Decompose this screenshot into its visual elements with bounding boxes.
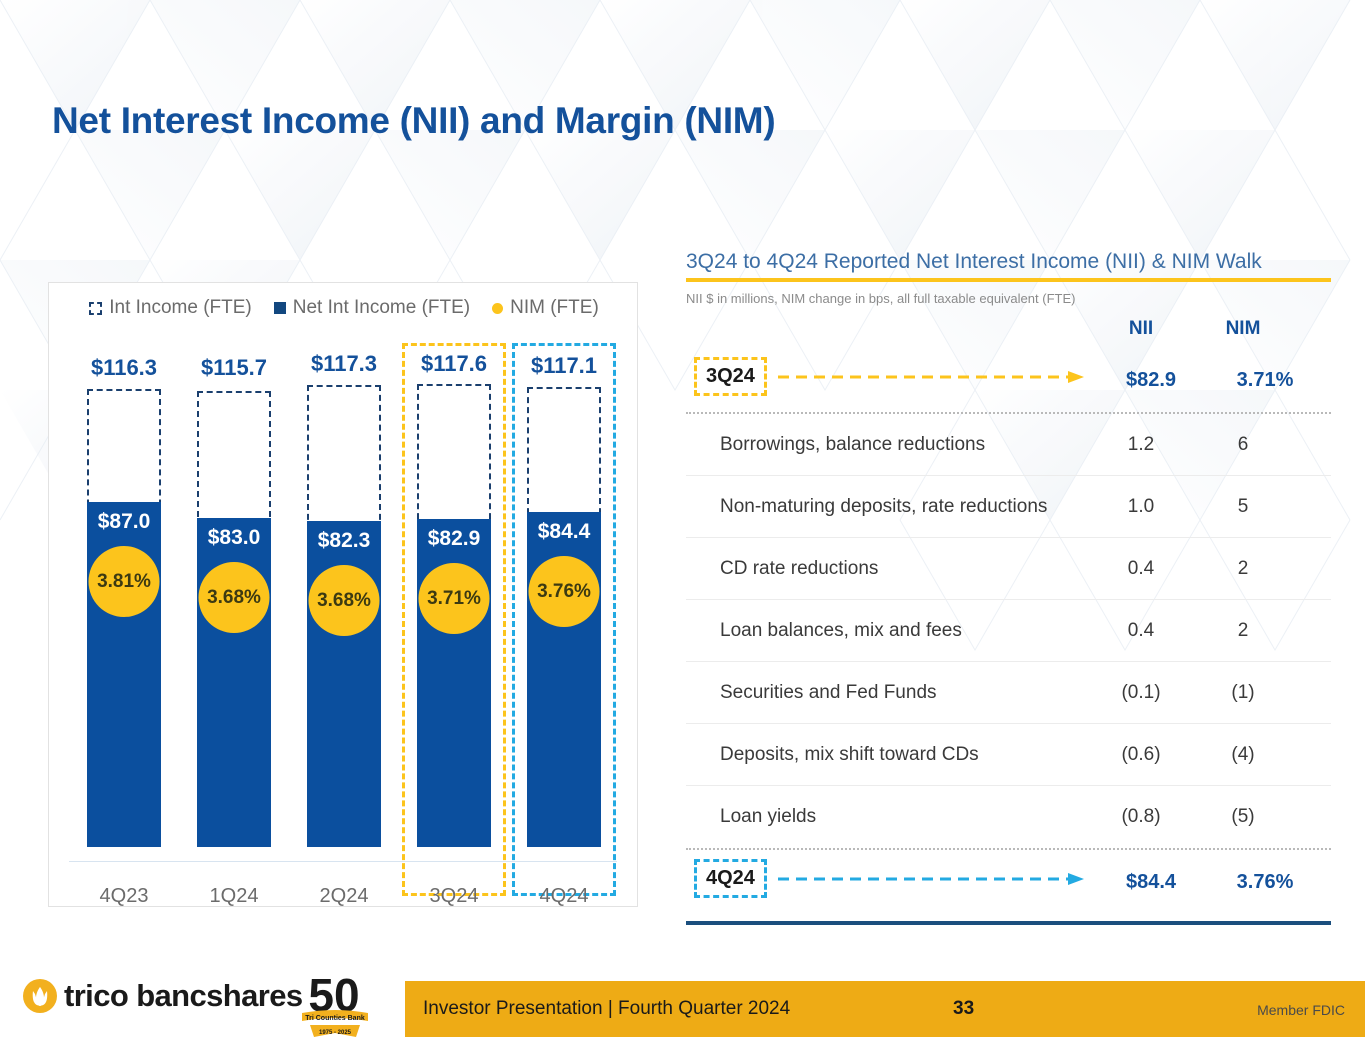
int-income-outline-bar: $82.9 3.71% <box>417 384 491 847</box>
walk-start-nii: $82.9 <box>1106 369 1196 392</box>
category-label-1q24: 1Q24 <box>181 885 287 908</box>
net-int-income-bar: $87.0 3.81% <box>87 502 161 847</box>
legend-label: NIM (FTE) <box>510 297 599 319</box>
walk-bottom-rule <box>686 921 1331 925</box>
anniversary-years-label: 1975 - 2025 <box>319 1030 352 1036</box>
walk-row-nii: (0.8) <box>1096 806 1186 828</box>
table-row: Loan balances, mix and fees 0.4 2 <box>686 600 1331 662</box>
bar-group-2q24: $117.3 $82.3 3.68% 2Q24 <box>291 343 397 908</box>
walk-row-nii: 0.4 <box>1096 558 1186 580</box>
net-int-income-bar: $82.9 3.71% <box>417 519 491 847</box>
tulip-logo-icon <box>22 978 58 1014</box>
slide: Net Interest Income (NII) and Margin (NI… <box>0 0 1365 1055</box>
walk-row-nim: (4) <box>1198 744 1288 766</box>
walk-start-row: 3Q24 $82.9 3.71% <box>686 348 1331 412</box>
walk-title-underline <box>686 278 1331 282</box>
walk-row-nim: (1) <box>1198 682 1288 704</box>
walk-end-nim: 3.76% <box>1220 871 1310 894</box>
footer-page-number: 33 <box>953 998 974 1020</box>
net-int-income-bar: $83.0 3.68% <box>197 518 271 847</box>
walk-column-headers: NII NIM <box>686 314 1331 348</box>
bar-group-1q24: $115.7 $83.0 3.68% 1Q24 <box>181 343 287 908</box>
walk-row-nii: 0.4 <box>1096 620 1186 642</box>
table-row: CD rate reductions 0.4 2 <box>686 538 1331 600</box>
int-income-outline-bar: $87.0 3.81% <box>87 389 161 847</box>
walk-end-arrow-icon <box>778 872 1088 886</box>
walk-row-label: Loan yields <box>686 804 1086 829</box>
int-income-outline-bar: $82.3 3.68% <box>307 385 381 847</box>
total-value-label: $115.7 <box>181 355 287 381</box>
walk-row-label: Securities and Fed Funds <box>686 680 1086 705</box>
bar-group-4q23: $116.3 $87.0 3.81% 4Q23 <box>71 343 177 908</box>
dashed-square-outline-icon <box>89 302 102 315</box>
filled-square-icon <box>274 302 286 314</box>
nim-bubble: 3.68% <box>309 565 380 636</box>
int-income-outline-bar: $84.4 3.76% <box>527 387 601 847</box>
chart-legend: Int Income (FTE) Net Int Income (FTE) NI… <box>49 297 639 319</box>
walk-end-tag: 4Q24 <box>694 859 767 898</box>
walk-row-label: Loan balances, mix and fees <box>686 618 1086 643</box>
int-income-outline-bar: $83.0 3.68% <box>197 391 271 847</box>
walk-row-nim: (5) <box>1198 806 1288 828</box>
legend-item-nim: NIM (FTE) <box>492 297 599 319</box>
walk-subtitle: NII $ in millions, NIM change in bps, al… <box>686 291 1331 306</box>
table-row: Deposits, mix shift toward CDs (0.6) (4) <box>686 724 1331 786</box>
walk-row-label: Non-maturing deposits, rate reductions <box>686 494 1086 519</box>
nim-bubble: 3.76% <box>529 556 600 627</box>
footer-bar: Investor Presentation | Fourth Quarter 2… <box>405 981 1365 1037</box>
footer-presentation-label: Investor Presentation | Fourth Quarter 2… <box>423 998 790 1020</box>
net-int-income-bar: $84.4 3.76% <box>527 512 601 847</box>
nii-nim-bar-chart: Int Income (FTE) Net Int Income (FTE) NI… <box>48 282 638 907</box>
walk-row-label: Deposits, mix shift toward CDs <box>686 742 1086 767</box>
net-value-label: $87.0 <box>87 510 161 534</box>
net-value-label: $84.4 <box>527 520 601 544</box>
walk-start-arrow-icon <box>778 370 1088 384</box>
bar-group-4q24: $117.1 $84.4 3.76% 4Q24 <box>511 343 617 908</box>
anniversary-bank-label: Tri Counties Bank <box>305 1015 365 1022</box>
walk-row-nii: (0.1) <box>1096 682 1186 704</box>
walk-end-row: 4Q24 $84.4 3.76% <box>686 850 1331 914</box>
walk-title: 3Q24 to 4Q24 Reported Net Interest Incom… <box>686 250 1331 278</box>
footer-member-fdic: Member FDIC <box>1257 1002 1345 1018</box>
walk-row-nii: 1.0 <box>1096 496 1186 518</box>
column-header-nim: NIM <box>1198 318 1288 340</box>
walk-row-nim: 2 <box>1198 558 1288 580</box>
category-label-4q24: 4Q24 <box>511 885 617 908</box>
chart-plot-area: $116.3 $87.0 3.81% 4Q23 $115.7 $83.0 3.6… <box>49 343 639 908</box>
total-value-label: $116.3 <box>71 355 177 381</box>
walk-row-label: Borrowings, balance reductions <box>686 432 1086 457</box>
nii-nim-walk-table: 3Q24 to 4Q24 Reported Net Interest Incom… <box>686 250 1331 925</box>
net-value-label: $82.3 <box>307 529 381 553</box>
table-row: Non-maturing deposits, rate reductions 1… <box>686 476 1331 538</box>
nim-bubble: 3.68% <box>199 562 270 633</box>
company-logo: trico bancshares <box>22 978 303 1014</box>
walk-row-label: CD rate reductions <box>686 556 1086 581</box>
walk-end-nii: $84.4 <box>1106 871 1196 894</box>
category-label-4q23: 4Q23 <box>71 885 177 908</box>
walk-row-nim: 2 <box>1198 620 1288 642</box>
legend-label: Net Int Income (FTE) <box>293 297 470 319</box>
walk-start-tag: 3Q24 <box>694 357 767 396</box>
legend-item-net-int-income: Net Int Income (FTE) <box>274 297 470 319</box>
walk-row-nii: 1.2 <box>1096 434 1186 456</box>
50th-anniversary-badge-icon: 50 Tri Counties Bank 1975 - 2025 <box>296 963 374 1049</box>
table-row: Borrowings, balance reductions 1.2 6 <box>686 414 1331 476</box>
table-row: Securities and Fed Funds (0.1) (1) <box>686 662 1331 724</box>
walk-start-nim: 3.71% <box>1220 369 1310 392</box>
filled-dot-icon <box>492 303 503 314</box>
category-label-2q24: 2Q24 <box>291 885 397 908</box>
net-value-label: $82.9 <box>417 527 491 551</box>
walk-row-nim: 6 <box>1198 434 1288 456</box>
nim-bubble: 3.71% <box>419 563 490 634</box>
legend-label: Int Income (FTE) <box>109 297 252 319</box>
total-value-label: $117.6 <box>401 351 507 377</box>
column-header-nii: NII <box>1096 318 1186 340</box>
logo-text: trico bancshares <box>64 978 303 1014</box>
nim-bubble: 3.81% <box>89 546 160 617</box>
total-value-label: $117.3 <box>291 351 397 377</box>
walk-row-nii: (0.6) <box>1096 744 1186 766</box>
page-title: Net Interest Income (NII) and Margin (NI… <box>52 100 775 142</box>
total-value-label: $117.1 <box>511 353 617 379</box>
net-value-label: $83.0 <box>197 526 271 550</box>
walk-row-nim: 5 <box>1198 496 1288 518</box>
table-row: Loan yields (0.8) (5) <box>686 786 1331 848</box>
category-label-3q24: 3Q24 <box>401 885 507 908</box>
net-int-income-bar: $82.3 3.68% <box>307 521 381 847</box>
bar-group-3q24: $117.6 $82.9 3.71% 3Q24 <box>401 343 507 908</box>
legend-item-int-income: Int Income (FTE) <box>89 297 252 319</box>
